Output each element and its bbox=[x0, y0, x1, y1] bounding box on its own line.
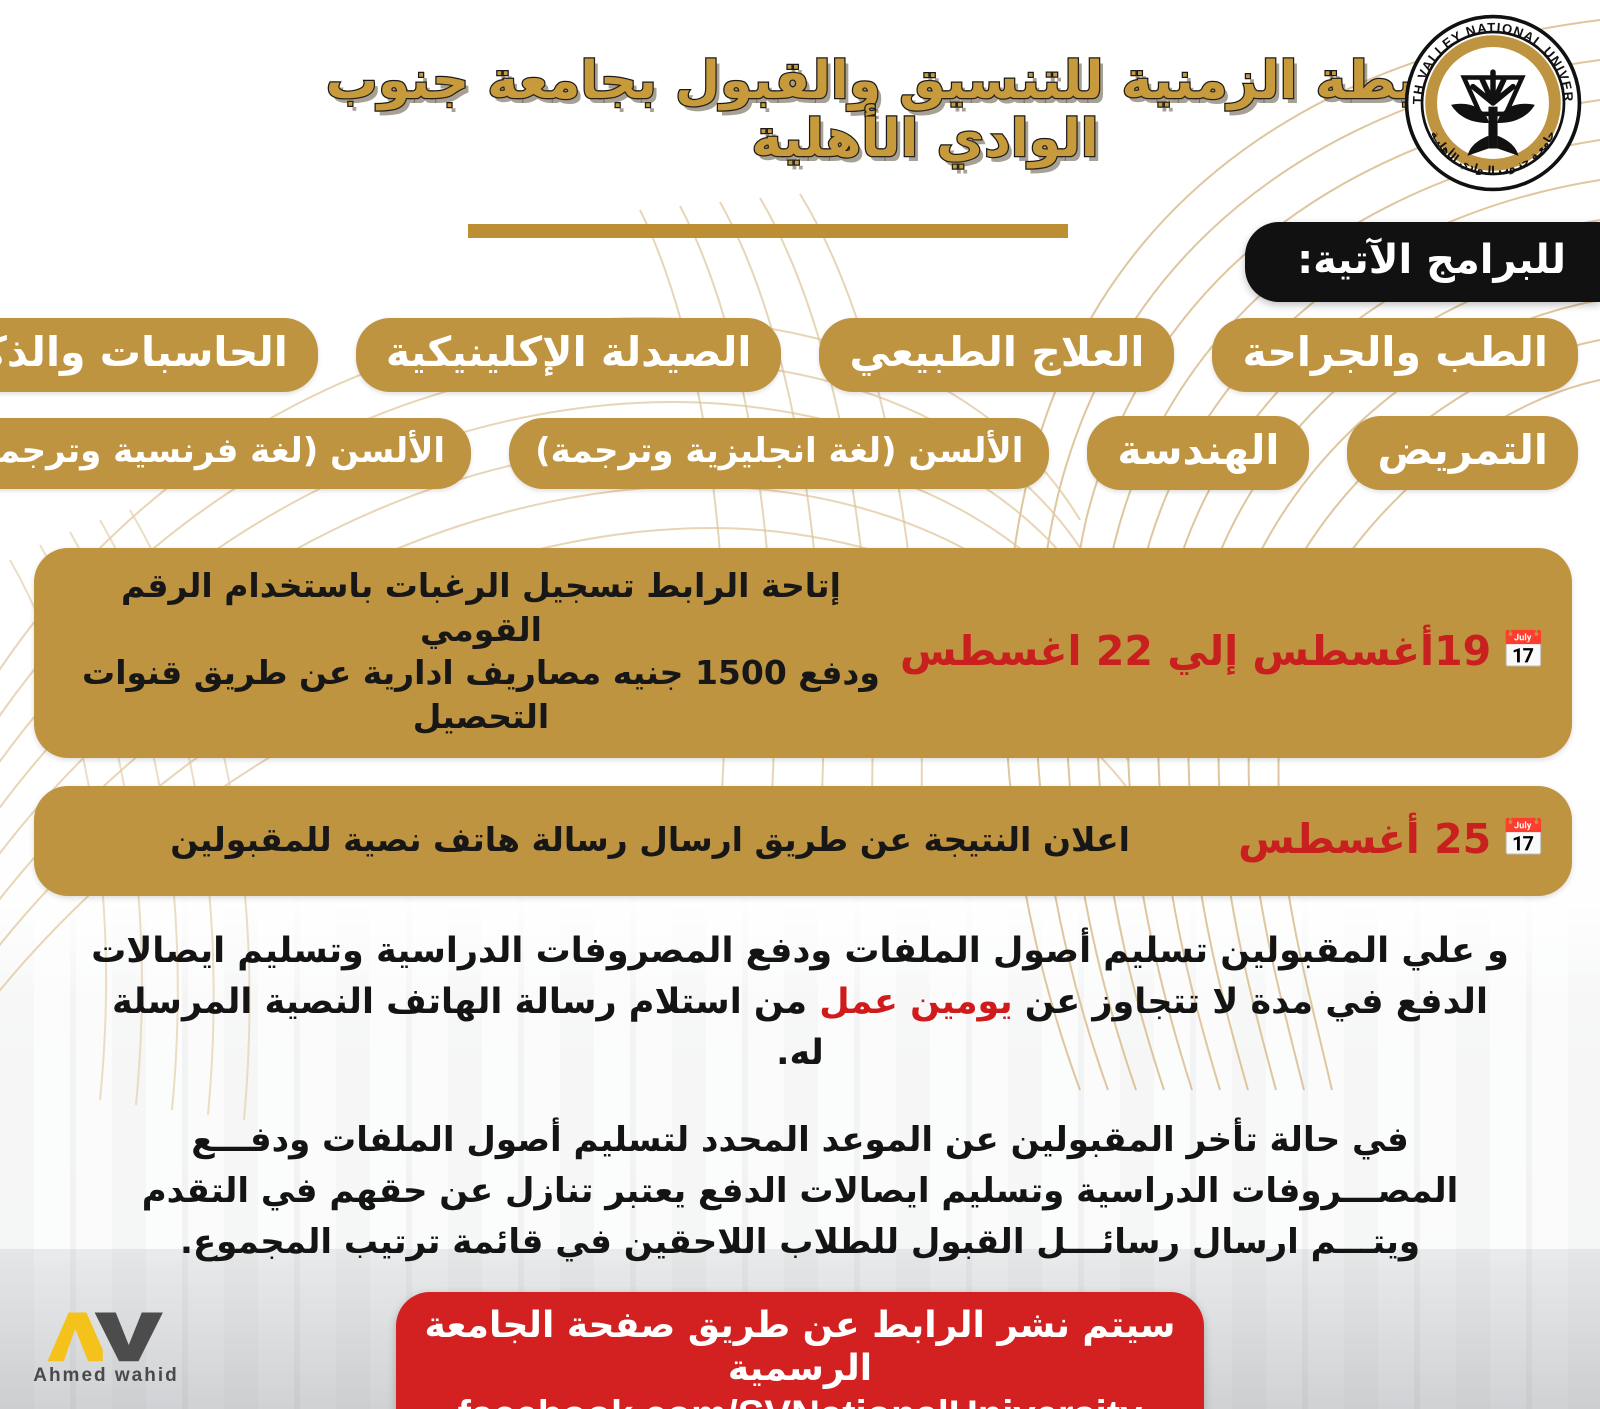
program-pill[interactable]: الطب والجراحة bbox=[1212, 318, 1578, 392]
watermark-name: Ahmed wahid bbox=[26, 1365, 186, 1387]
timeline-line-1: إتاحة الرابط تسجيل الرغبات باستخدام الرق… bbox=[76, 564, 886, 651]
timeline-description: اعلان النتيجة عن طريق ارسال رسالة هاتف ن… bbox=[62, 818, 1238, 862]
program-pill[interactable]: الصيدلة الإكلينيكية bbox=[356, 318, 782, 392]
note-paragraph-1: و علي المقبولين تسليم أصول الملفات ودفع … bbox=[0, 926, 1600, 1078]
program-pill[interactable]: التمريض bbox=[1347, 416, 1578, 490]
note-1-highlight: يومين عمل bbox=[819, 982, 1012, 1022]
note-paragraph-2: في حالة تأخر المقبولين عن الموعد المحدد … bbox=[0, 1115, 1600, 1268]
program-pill[interactable]: العلاج الطبيعي bbox=[819, 318, 1174, 392]
university-logo: SOUTH VALLEY NATIONAL UNIVERSITY جامعـة … bbox=[1402, 12, 1584, 194]
aw-monogram-icon bbox=[41, 1307, 171, 1365]
facebook-url[interactable]: facebook.com/SVNationalUniversity bbox=[420, 1392, 1180, 1409]
timeline-line-2: ودفع 1500 جنيه مصاريف ادارية عن طريق قنو… bbox=[76, 651, 886, 738]
poster-root: MAIN BUILDING المبنـــى الرئيســي bbox=[0, 0, 1600, 1409]
programs-badge: للبرامج الآتية: bbox=[1245, 222, 1600, 302]
program-pill[interactable]: الألسن (لغة انجليزية وترجمة) bbox=[509, 418, 1049, 489]
program-pill[interactable]: الألسن (لغة فرنسية وترجمة) bbox=[0, 418, 471, 489]
designer-watermark: Ahmed wahid bbox=[26, 1307, 186, 1387]
facebook-banner[interactable]: سيتم نشر الرابط عن طريق صفحة الجامعة الر… bbox=[396, 1292, 1204, 1409]
poster-header: الخريطة الزمنية للتنسيق والقبول بجامعة ج… bbox=[0, 0, 1600, 200]
timeline-item: 📅 25 أغسطس اعلان النتيجة عن طريق ارسال ر… bbox=[34, 786, 1572, 896]
gold-divider-rule bbox=[468, 224, 1068, 238]
page-title: الخريطة الزمنية للتنسيق والقبول بجامعة ج… bbox=[310, 52, 1540, 168]
program-pill[interactable]: الحاسبات والذكاء الاصطناعي bbox=[0, 318, 318, 392]
facebook-banner-arabic: سيتم نشر الرابط عن طريق صفحة الجامعة الر… bbox=[420, 1304, 1180, 1390]
programs-row-2: التمريض الهندسة الألسن (لغة انجليزية وتر… bbox=[0, 416, 1600, 490]
programs-list: الطب والجراحة العلاج الطبيعي الصيدلة الإ… bbox=[0, 318, 1600, 490]
note-1-part-2: من استلام رسالة الهاتف النصية المرسلة له… bbox=[112, 982, 824, 1073]
program-pill[interactable]: الهندسة bbox=[1087, 416, 1309, 490]
timeline-item: 📅 19أغسطس إلي 22 اغسطس إتاحة الرابط تسجي… bbox=[34, 548, 1572, 758]
calendar-icon: 📅 bbox=[1501, 821, 1546, 857]
timeline-line-1: اعلان النتيجة عن طريق ارسال رسالة هاتف ن… bbox=[76, 818, 1224, 862]
timeline-date: 19أغسطس إلي 22 اغسطس bbox=[900, 627, 1491, 676]
timeline-date: 25 أغسطس bbox=[1238, 815, 1491, 864]
timeline-description: إتاحة الرابط تسجيل الرغبات باستخدام الرق… bbox=[62, 564, 900, 738]
programs-row-1: الطب والجراحة العلاج الطبيعي الصيدلة الإ… bbox=[0, 318, 1600, 392]
calendar-icon: 📅 bbox=[1501, 633, 1546, 669]
